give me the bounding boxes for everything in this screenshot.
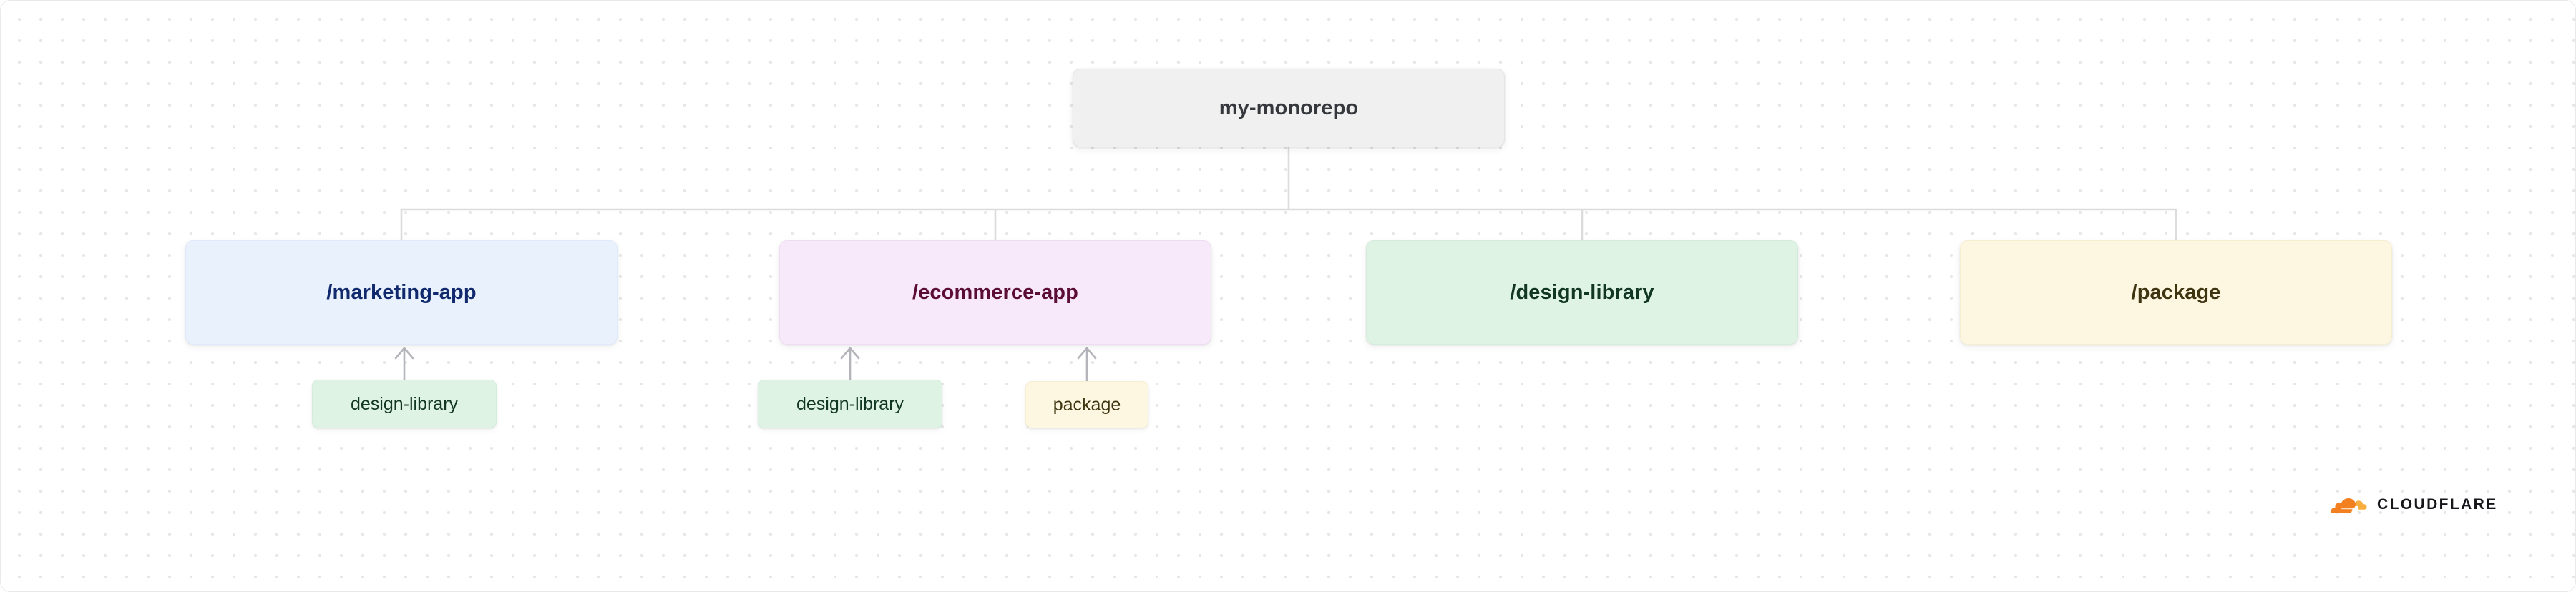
node-label-package: /package — [2132, 280, 2221, 305]
cloudflare-wordmark: CLOUDFLARE — [2377, 496, 2498, 513]
cloudflare-logo: CLOUDFLARE — [2325, 493, 2498, 517]
dependency-pill-ecommerce-design-library[interactable]: design-library — [758, 380, 942, 428]
dependency-pill-marketing-design-library[interactable]: design-library — [312, 380, 497, 428]
arrowhead-marketing-design-library — [396, 348, 413, 358]
node-design-library[interactable]: /design-library — [1366, 240, 1798, 345]
dependency-label-ecommerce-package: package — [1053, 395, 1121, 415]
node-ecommerce-app[interactable]: /ecommerce-app — [779, 240, 1211, 345]
node-marketing-app[interactable]: /marketing-app — [185, 240, 618, 345]
node-label-marketing-app: /marketing-app — [326, 280, 476, 305]
node-label-my-monorepo: my-monorepo — [1219, 96, 1358, 121]
diagram-canvas: my-monorepo /marketing-app /ecommerce-ap… — [0, 0, 2576, 592]
arrowhead-ecommerce-design-library — [841, 348, 859, 358]
node-label-ecommerce-app: /ecommerce-app — [912, 280, 1078, 305]
cloudflare-cloud-icon — [2325, 493, 2369, 517]
arrowhead-ecommerce-package — [1078, 348, 1096, 358]
node-my-monorepo[interactable]: my-monorepo — [1073, 69, 1505, 147]
dependency-pill-ecommerce-package[interactable]: package — [1025, 381, 1148, 428]
dependency-label-ecommerce-design-library: design-library — [796, 394, 904, 415]
dependency-label-marketing-design-library: design-library — [351, 394, 458, 415]
node-package[interactable]: /package — [1960, 240, 2392, 345]
node-label-design-library: /design-library — [1510, 280, 1654, 305]
